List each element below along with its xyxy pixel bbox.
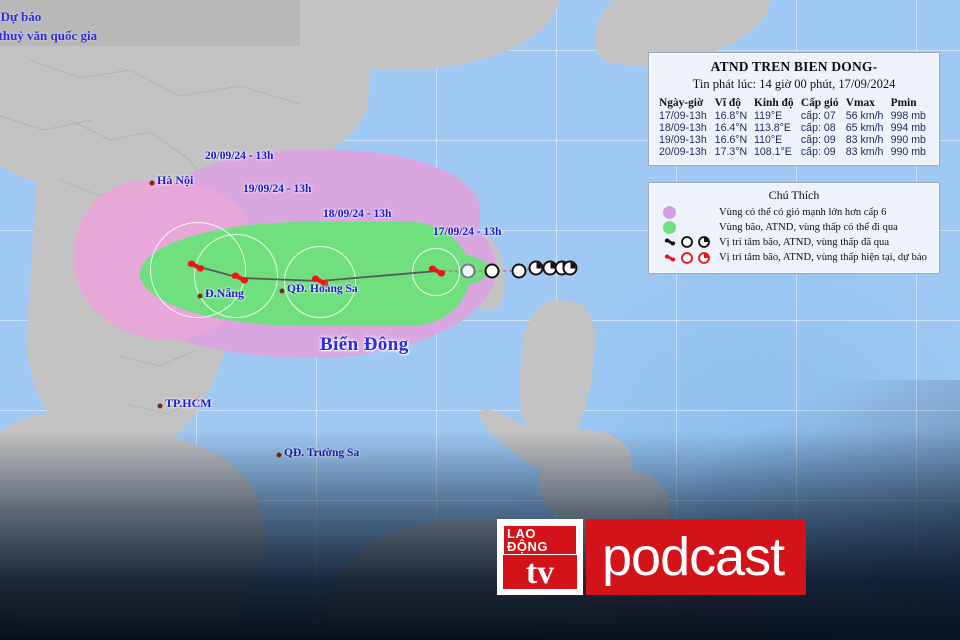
forecast-time-label: 18/09/24 - 13h — [323, 208, 391, 220]
forecast-table-header: Ngày-giờVĩ độKinh độCấp gióVmaxPmin — [657, 96, 931, 110]
forecast-cell: 83 km/h — [844, 146, 889, 158]
forecast-col-1: Vĩ độ — [713, 96, 752, 110]
forecast-cell: 16.8°N — [713, 110, 752, 122]
forecast-table: Ngày-giờVĩ độKinh độCấp gióVmaxPmin 17/0… — [657, 96, 931, 158]
forecast-cell: 994 mb — [889, 122, 931, 134]
purple-swatch-icon — [657, 206, 713, 219]
forecast-cell: 17/09-13h — [657, 110, 713, 122]
logo-brand-name: LAO ĐỘNG — [503, 525, 577, 555]
weather-map-screenshot: Hà NộiĐ.NẵngTP.HCM QĐ. Hoàng SaQĐ. Trườn… — [0, 0, 960, 640]
forecast-cell: 83 km/h — [844, 134, 889, 146]
forecast-col-5: Pmin — [889, 96, 931, 110]
forecast-cell: 56 km/h — [844, 110, 889, 122]
city-dot — [158, 404, 163, 409]
forecast-cell: 20/09-13h — [657, 146, 713, 158]
storm-info-panel: ATND TREN BIEN DONG- Tin phát lúc: 14 gi… — [648, 52, 940, 166]
legend-row: Vị trí tâm bão, ATND, vùng thấp hiện tại… — [657, 251, 931, 265]
forecast-cell: cấp: 09 — [799, 146, 844, 158]
cyclone-marker-past — [461, 264, 476, 279]
forecast-cell: 65 km/h — [844, 122, 889, 134]
forecast-cell: 18/09-13h — [657, 122, 713, 134]
sea-label-bien-dong: Biển Đông — [320, 334, 409, 356]
forecast-time-label: 17/09/24 - 13h — [433, 226, 501, 238]
logo-brand-box: LAO ĐỘNG tv — [497, 519, 583, 595]
forecast-cell: cấp: 08 — [799, 122, 844, 134]
forecast-cell: 16.6°N — [713, 134, 752, 146]
green-swatch-icon — [657, 221, 713, 234]
forecast-col-3: Cấp gió — [799, 96, 844, 110]
black-cyclone-icons-icon — [657, 235, 713, 249]
forecast-time-label: 19/09/24 - 13h — [243, 183, 311, 195]
watermark-line-1: Trung tâm Dự báo — [0, 8, 97, 27]
forecast-cell: 108.1°E — [752, 146, 799, 158]
cyclone-marker-forecast — [426, 260, 448, 282]
legend-title: Chú Thích — [657, 188, 931, 203]
cyclone-marker-past — [512, 264, 527, 279]
legend-row: Vùng bão, ATND, vùng thấp có thể đi qua — [657, 221, 931, 234]
agency-watermark: Trung tâm Dự báo Khí tượng thuỷ văn quốc… — [0, 8, 97, 46]
legend-label: Vị trí tâm bão, ATND, vùng thấp đã qua — [719, 237, 889, 248]
forecast-row: 18/09-13h16.4°N113.8°Ecấp: 0865 km/h994 … — [657, 122, 931, 134]
logo-podcast-text: podcast — [602, 530, 784, 584]
forecast-cell: 998 mb — [889, 110, 931, 122]
city-dot — [198, 294, 203, 299]
cyclone-marker-forecast — [185, 255, 207, 277]
panel-title: ATND TREN BIEN DONG- — [657, 59, 931, 75]
forecast-cell: 19/09-13h — [657, 134, 713, 146]
panel-issue-time: Tin phát lúc: 14 giờ 00 phút, 17/09/2024 — [657, 77, 931, 92]
island-dot — [277, 453, 282, 458]
city-label: Hà Nội — [157, 173, 193, 188]
forecast-cell: 17.3°N — [713, 146, 752, 158]
watermark-line-2: Khí tượng thuỷ văn quốc gia — [0, 27, 97, 46]
legend-label: Vị trí tâm bão, ATND, vùng thấp hiện tại… — [719, 252, 927, 263]
forecast-cell: 990 mb — [889, 134, 931, 146]
legend-label: Vùng bão, ATND, vùng thấp có thể đi qua — [719, 222, 898, 233]
laodong-tv-podcast-logo: LAO ĐỘNG tv podcast — [497, 519, 806, 595]
forecast-cell: cấp: 09 — [799, 134, 844, 146]
red-cyclone-icons-icon — [657, 251, 713, 265]
cyclone-marker-past — [563, 261, 578, 276]
cyclone-marker-past — [529, 261, 544, 276]
island-label: QĐ. Hoàng Sa — [287, 283, 358, 295]
legend-row: Vị trí tâm bão, ATND, vùng thấp đã qua — [657, 235, 931, 249]
island-label: QĐ. Trường Sa — [284, 447, 359, 459]
legend-row: Vùng có thể có gió mạnh lớn hơn cấp 6 — [657, 206, 931, 219]
cyclone-marker-past — [485, 264, 500, 279]
forecast-cell: 113.8°E — [752, 122, 799, 134]
legend-rows: Vùng có thể có gió mạnh lớn hơn cấp 6Vùn… — [657, 206, 931, 265]
forecast-time-label: 20/09/24 - 13h — [205, 150, 273, 162]
forecast-cell: 110°E — [752, 134, 799, 146]
city-dot — [150, 181, 155, 186]
forecast-row: 19/09-13h16.6°N110°Ecấp: 0983 km/h990 mb — [657, 134, 931, 146]
forecast-row: 20/09-13h17.3°N108.1°Ecấp: 0983 km/h990 … — [657, 146, 931, 158]
legend-panel: Chú Thích Vùng có thể có gió mạnh lớn hơ… — [648, 182, 940, 274]
forecast-table-body: 17/09-13h16.8°N119°Ecấp: 0756 km/h998 mb… — [657, 110, 931, 158]
city-label: TP.HCM — [165, 396, 212, 411]
legend-label: Vùng có thể có gió mạnh lớn hơn cấp 6 — [719, 207, 886, 218]
forecast-col-0: Ngày-giờ — [657, 96, 713, 110]
forecast-cell: 16.4°N — [713, 122, 752, 134]
forecast-cell: 990 mb — [889, 146, 931, 158]
island-dot — [280, 289, 285, 294]
forecast-cell: cấp: 07 — [799, 110, 844, 122]
forecast-col-2: Kinh độ — [752, 96, 799, 110]
logo-podcast-banner: podcast — [586, 519, 806, 595]
forecast-cell: 119°E — [752, 110, 799, 122]
forecast-col-4: Vmax — [844, 96, 889, 110]
logo-tv-text: tv — [526, 557, 554, 588]
city-label: Đ.Nẵng — [205, 286, 244, 301]
logo-brand-box-inner: LAO ĐỘNG tv — [501, 523, 579, 591]
forecast-row: 17/09-13h16.8°N119°Ecấp: 0756 km/h998 mb — [657, 110, 931, 122]
